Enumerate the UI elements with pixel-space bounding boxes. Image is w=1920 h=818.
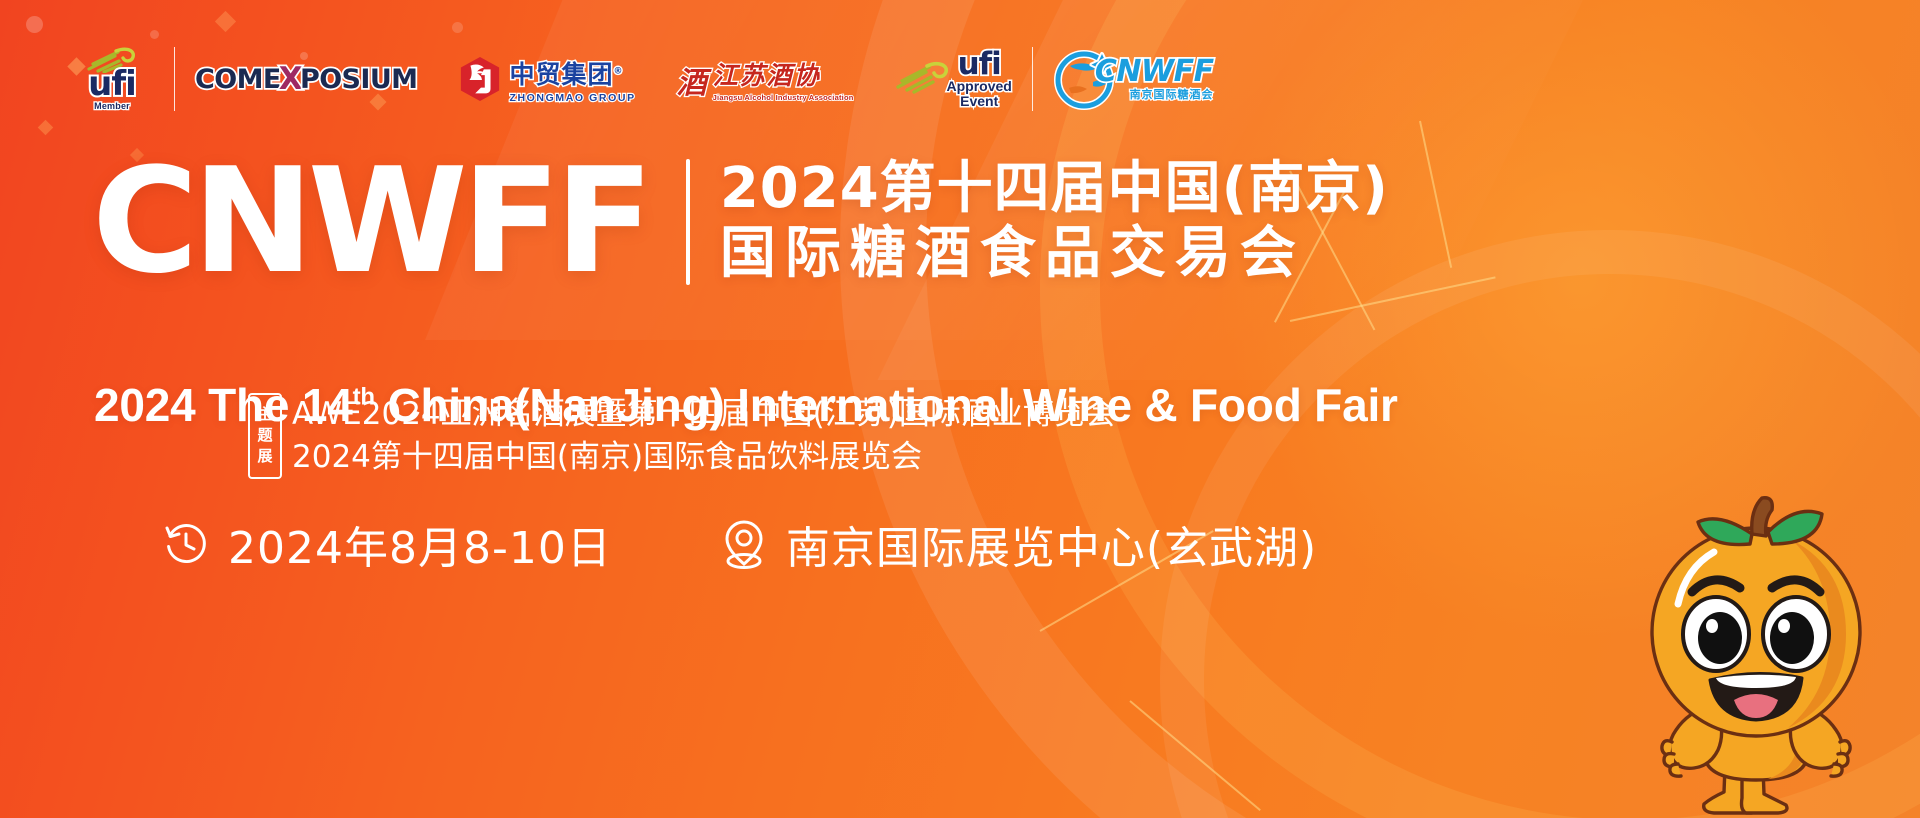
ufi-event-label: Event — [960, 94, 998, 108]
cnwff-cn-label: 南京国际糖酒会 — [1095, 86, 1214, 102]
theme-line: AWE2024亚洲名酒展暨第十四届中国(江苏)国际酒业博览会 — [292, 393, 1116, 436]
title-divider — [686, 159, 690, 285]
page-title-acronym: CNWFF — [92, 155, 648, 288]
ufi-approved-wordmark: ufi — [958, 50, 1001, 79]
event-location: 南京国际展览中心(玄武湖) — [786, 512, 1317, 576]
partner-logo-strip: ufi Member COME X POSIUM — [70, 38, 1214, 120]
theme-line: 2024第十四届中国(南京)国际食品饮料展览会 — [292, 436, 1116, 479]
logo-divider — [1032, 47, 1033, 111]
main-title-row: CNWFF 2024第十四届中国(南京) 国际糖酒食品交易会 — [92, 155, 1389, 288]
event-info-row: 2024年8月8-10日 南京国际展览中心(玄武湖) — [162, 512, 1317, 576]
comexposium-x: X — [279, 61, 302, 97]
map-pin-icon — [720, 518, 768, 570]
theme-exhibitions: 主 题 展 AWE2024亚洲名酒展暨第十四届中国(江苏)国际酒业博览会 202… — [248, 393, 1116, 479]
event-date-item: 2024年8月8-10日 — [162, 512, 612, 576]
ufi-member-label: Member — [94, 101, 130, 111]
background-line — [1129, 700, 1261, 811]
event-date: 2024年8月8-10日 — [228, 512, 612, 576]
ufi-wing-icon — [895, 60, 951, 94]
logo-divider — [174, 47, 175, 111]
jiangsu-seal-char: 酒 — [677, 58, 707, 102]
registered-mark: ® — [613, 66, 623, 76]
theme-line-list: AWE2024亚洲名酒展暨第十四届中国(江苏)国际酒业博览会 2024第十四届中… — [292, 393, 1116, 479]
comexposium-right: POSIUM — [300, 64, 417, 95]
ufi-wordmark: ufi — [88, 69, 136, 100]
clock-icon — [162, 520, 210, 568]
title-chinese: 2024第十四届中国(南京) 国际糖酒食品交易会 — [720, 157, 1389, 287]
zhongmao-mark-icon — [458, 56, 502, 102]
theme-tag-char-2: 题 — [257, 425, 272, 446]
logo-zhongmao-group: 中贸集团® ZHONGMAO GROUP — [458, 38, 635, 120]
zhongmao-en-name: ZHONGMAO GROUP — [509, 92, 635, 104]
title-chinese-line2: 国际糖酒食品交易会 — [720, 222, 1389, 287]
ufi-approved-label: Approved — [947, 79, 1012, 93]
logo-ufi-approved-event: ufi Approved Event — [895, 38, 1012, 120]
theme-tag-char-1: 主 — [257, 404, 272, 425]
logo-ufi-member: ufi Member — [70, 38, 154, 120]
logo-comexposium: COME X POSIUM — [195, 38, 417, 120]
event-banner: ufi Member COME X POSIUM — [0, 0, 1920, 818]
logo-jiangsu-wine-association: 酒 江苏酒协 Jiangsu Alcohol Industry Associat… — [677, 38, 854, 120]
title-chinese-line1: 2024第十四届中国(南京) — [720, 157, 1389, 222]
orange-mascot — [1606, 492, 1906, 818]
theme-tag-char-3: 展 — [257, 446, 272, 467]
zhongmao-cn-name: 中贸集团® — [509, 55, 635, 91]
theme-tag: 主 题 展 — [248, 393, 282, 479]
comexposium-left: COME — [195, 64, 281, 95]
event-location-item: 南京国际展览中心(玄武湖) — [720, 512, 1317, 576]
logo-cnwff: CNWFF 南京国际糖酒会 — [1053, 38, 1214, 120]
cnwff-wordmark: CNWFF — [1095, 57, 1214, 87]
jiangsu-cn-name: 江苏酒协 — [713, 56, 854, 92]
jiangsu-en-name: Jiangsu Alcohol Industry Association — [713, 93, 854, 102]
